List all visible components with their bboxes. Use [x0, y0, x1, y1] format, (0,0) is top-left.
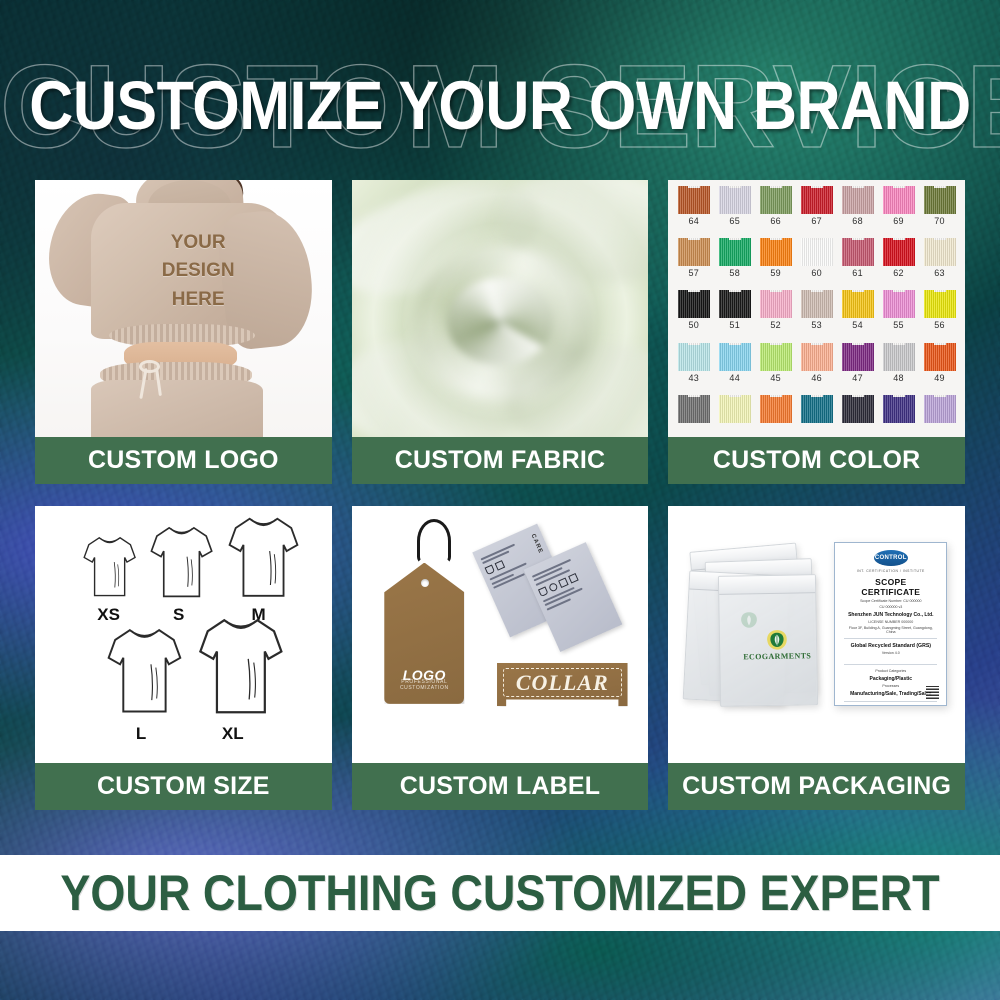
- tshirt-icon: [760, 186, 792, 214]
- tshirt-icon: [760, 395, 792, 423]
- color-swatch-number: 46: [811, 373, 822, 383]
- card-custom-size[interactable]: XS S M: [35, 506, 332, 810]
- certificate-version: CU 000000 v3: [844, 605, 937, 609]
- pants-body: [91, 380, 263, 437]
- tshirt-icon: [842, 238, 874, 266]
- tshirt-icon: [760, 343, 792, 371]
- tshirt-swatch-icon: [924, 343, 956, 371]
- fabric-sheen: [352, 180, 649, 437]
- tshirt-icon: [719, 238, 751, 266]
- size-chart-illustration: XS S M: [35, 506, 332, 763]
- tshirt-swatch-icon: [719, 290, 751, 318]
- card-caption-custom-fabric: CUSTOM FABRIC: [352, 437, 649, 484]
- certificate-number: Scope Certificate Number: CU 000000: [844, 599, 937, 603]
- color-swatch-number: 63: [934, 268, 945, 278]
- shirt-outline-xs: [77, 532, 142, 601]
- tshirt-swatch-icon: [719, 395, 751, 423]
- color-swatch-chart: 6465666768697057585960616263505152535455…: [668, 180, 965, 437]
- color-swatch: [837, 395, 878, 435]
- hangtag: LOGO PROFESSIONAL CUSTOMIZATION: [384, 563, 464, 704]
- page-title: CUSTOMIZE YOUR OWN BRAND: [0, 72, 1000, 140]
- color-swatch-number: 67: [811, 216, 822, 226]
- certificate-divider-1: [844, 638, 937, 639]
- color-swatch-number: 70: [934, 216, 945, 226]
- certificate-body-1: [844, 655, 937, 660]
- tshirt-swatch-icon: [842, 343, 874, 371]
- card-caption-custom-color: CUSTOM COLOR: [668, 437, 965, 484]
- dryclean-icon: [547, 582, 558, 593]
- color-swatch: 56: [919, 290, 960, 340]
- certificate-license: LICENSE NUMBER 000000: [844, 620, 937, 624]
- tshirt-swatch-icon: [719, 343, 751, 371]
- color-swatch: 66: [755, 186, 796, 236]
- shirt-outline-m: [219, 511, 308, 604]
- color-swatch-number: 43: [688, 373, 699, 383]
- color-swatch: [796, 395, 837, 435]
- color-swatch-number: 54: [852, 320, 863, 330]
- tshirt-icon: [678, 343, 710, 371]
- color-swatch-number: 69: [893, 216, 904, 226]
- tshirt-icon: [801, 395, 833, 423]
- tshirt-icon: [719, 343, 751, 371]
- card-custom-packaging[interactable]: ECOGARMENTS CONTROL INT. CERTI: [668, 506, 965, 810]
- color-swatch: [755, 395, 796, 435]
- card-custom-label[interactable]: LOGO PROFESSIONAL CUSTOMIZATION CARE: [352, 506, 649, 810]
- color-swatch: 58: [714, 238, 755, 288]
- tshirt-icon: [883, 395, 915, 423]
- tshirt-swatch-icon: [801, 343, 833, 371]
- hangtag-string-loop: [417, 519, 451, 563]
- ecogarments-brand-ghost: [737, 609, 763, 633]
- card-caption-custom-size: CUSTOM SIZE: [35, 763, 332, 810]
- card-custom-logo-image: YOUR DESIGN HERE: [35, 180, 332, 437]
- certificate-title: SCOPE CERTIFICATE: [844, 577, 937, 597]
- tshirt-icon: [883, 238, 915, 266]
- hoodie-print-text: YOUR DESIGN HERE: [133, 229, 264, 315]
- color-swatch-number: 66: [770, 216, 781, 226]
- card-custom-fabric[interactable]: CUSTOM FABRIC: [352, 180, 649, 484]
- tshirt-icon: [719, 290, 751, 318]
- color-swatch: 51: [714, 290, 755, 340]
- color-swatch-number: 57: [688, 268, 699, 278]
- tshirt-icon: [760, 290, 792, 318]
- tshirt-swatch-icon: [842, 238, 874, 266]
- color-swatch: 49: [919, 343, 960, 393]
- color-swatch-number: 61: [852, 268, 863, 278]
- tshirt-swatch-icon: [924, 290, 956, 318]
- card-caption-custom-label: CUSTOM LABEL: [352, 763, 649, 810]
- tshirt-swatch-icon: [883, 186, 915, 214]
- tshirt-icon: [801, 290, 833, 318]
- hangtag-eyelet: [421, 579, 429, 587]
- color-swatch: 46: [796, 343, 837, 393]
- tshirt-swatch-icon: [760, 343, 792, 371]
- card-custom-color-image: 6465666768697057585960616263505152535455…: [668, 180, 965, 437]
- certificate-divider-2: [844, 664, 937, 665]
- footer-tagline: YOUR CLOTHING CUSTOMIZED EXPERT: [60, 864, 939, 922]
- collar-label-text: COLLAR: [516, 670, 609, 696]
- color-swatch-grid: 6465666768697057585960616263505152535455…: [673, 186, 960, 435]
- tshirt-swatch-icon: [678, 238, 710, 266]
- tshirt-icon: [678, 238, 710, 266]
- control-union-oval-icon: CONTROL: [874, 550, 908, 566]
- tshirt-swatch-icon: [760, 186, 792, 214]
- card-caption-custom-logo: CUSTOM LOGO: [35, 437, 332, 484]
- card-custom-fabric-image: [352, 180, 649, 437]
- tshirt-icon: [678, 395, 710, 423]
- color-swatch: 65: [714, 186, 755, 236]
- color-swatch-number: 65: [729, 216, 740, 226]
- color-swatch-number: 59: [770, 268, 781, 278]
- tshirt-swatch-icon: [924, 395, 956, 423]
- color-swatch-number: 53: [811, 320, 822, 330]
- hoodie-photo: YOUR DESIGN HERE: [35, 180, 332, 437]
- tshirt-icon: [883, 186, 915, 214]
- shirt-outline-l: [97, 622, 192, 720]
- color-swatch: 68: [837, 186, 878, 236]
- color-swatch: 44: [714, 343, 755, 393]
- tshirt-swatch-icon: [760, 290, 792, 318]
- color-swatch: [714, 395, 755, 435]
- feature-card-grid: YOUR DESIGN HERE CUSTOM LOGO CUSTOM FABR…: [35, 180, 965, 810]
- tshirt-swatch-icon: [719, 186, 751, 214]
- certificate-divider-3: [844, 701, 937, 702]
- color-swatch: [878, 395, 919, 435]
- tshirt-swatch-icon: [924, 186, 956, 214]
- certificate-company: Shenzhen JUN Technology Co., Ltd.: [844, 612, 937, 618]
- color-swatch: 67: [796, 186, 837, 236]
- color-swatch: 62: [878, 238, 919, 288]
- card-custom-logo[interactable]: YOUR DESIGN HERE CUSTOM LOGO: [35, 180, 332, 484]
- qr-code-icon: [926, 686, 939, 699]
- color-swatch: 69: [878, 186, 919, 236]
- tshirt-swatch-icon: [760, 238, 792, 266]
- tshirt-icon: [719, 186, 751, 214]
- tshirt-icon: [842, 395, 874, 423]
- color-swatch: 63: [919, 238, 960, 288]
- tshirt-swatch-icon: [678, 343, 710, 371]
- color-swatch-number: 51: [729, 320, 740, 330]
- certificate-standard: Global Recycled Standard (GRS): [844, 643, 937, 649]
- color-swatch: 55: [878, 290, 919, 340]
- packaging-illustration: ECOGARMENTS CONTROL INT. CERTI: [668, 506, 965, 763]
- shirt-outline-s: [143, 521, 220, 603]
- tshirt-swatch-icon: [801, 395, 833, 423]
- tshirt-swatch-icon: [719, 238, 751, 266]
- color-swatch-number: 68: [852, 216, 863, 226]
- tshirt-swatch-icon: [678, 395, 710, 423]
- color-swatch: 59: [755, 238, 796, 288]
- color-swatch-number: 55: [893, 320, 904, 330]
- color-swatch: 47: [837, 343, 878, 393]
- label-products-illustration: LOGO PROFESSIONAL CUSTOMIZATION CARE: [352, 506, 649, 763]
- tshirt-swatch-icon: [801, 238, 833, 266]
- tshirt-icon: [924, 395, 956, 423]
- card-caption-custom-packaging: CUSTOM PACKAGING: [668, 763, 965, 810]
- tshirt-icon: [760, 238, 792, 266]
- tshirt-icon: [719, 395, 751, 423]
- color-swatch-number: 50: [688, 320, 699, 330]
- tshirt-swatch-icon: [760, 395, 792, 423]
- certificate-scope: Manufacturing/Sale, Trading/Sales: [844, 691, 937, 697]
- tshirt-swatch-icon: [924, 238, 956, 266]
- tshirt-swatch-icon: [678, 290, 710, 318]
- color-swatch: 60: [796, 238, 837, 288]
- color-swatch-number: 58: [729, 268, 740, 278]
- tshirt-icon: [924, 343, 956, 371]
- tshirt-icon: [924, 238, 956, 266]
- bleach-icon: [495, 560, 506, 571]
- color-swatch-number: 64: [688, 216, 699, 226]
- color-swatch: 64: [673, 186, 714, 236]
- tshirt-icon: [883, 343, 915, 371]
- tshirt-icon: [924, 290, 956, 318]
- certifier-subtitle: INT. CERTIFICATION / INSTITUTE: [844, 569, 937, 573]
- poly-mailer-front: ECOGARMENTS: [718, 575, 818, 708]
- wash-icon: [537, 586, 548, 597]
- tshirt-icon: [883, 290, 915, 318]
- card-custom-size-image: XS S M: [35, 506, 332, 763]
- size-label-l: L: [136, 724, 146, 744]
- size-label-xl: XL: [222, 724, 244, 744]
- tshirt-swatch-icon: [883, 290, 915, 318]
- tshirt-swatch-icon: [801, 186, 833, 214]
- leaf-icon-ghost: [737, 609, 763, 633]
- wash-icon: [485, 565, 496, 576]
- card-custom-color[interactable]: 6465666768697057585960616263505152535455…: [668, 180, 965, 484]
- leaf-icon: [764, 628, 790, 652]
- color-swatch: [673, 395, 714, 435]
- shirt-outline-xl: [186, 611, 296, 722]
- header-banner: CUSTOM SERVICE CUSTOMIZE YOUR OWN BRAND: [0, 52, 1000, 160]
- tshirt-swatch-icon: [842, 395, 874, 423]
- tshirt-icon: [801, 343, 833, 371]
- color-swatch-number: 48: [893, 373, 904, 383]
- tshirt-icon: [842, 290, 874, 318]
- tshirt-swatch-icon: [883, 238, 915, 266]
- iron-icon: [557, 577, 568, 588]
- certificate-product-label: Product Categories: [844, 669, 937, 673]
- tshirt-swatch-icon: [801, 290, 833, 318]
- tshirt-icon: [678, 186, 710, 214]
- collar-label-border: COLLAR: [503, 668, 622, 698]
- color-swatch: 48: [878, 343, 919, 393]
- color-swatch: 53: [796, 290, 837, 340]
- print-line-3: HERE: [133, 286, 264, 315]
- tshirt-icon: [801, 186, 833, 214]
- tshirt-icon: [801, 238, 833, 266]
- color-swatch-number: 52: [770, 320, 781, 330]
- footer-banner: YOUR CLOTHING CUSTOMIZED EXPERT: [0, 855, 1000, 931]
- tshirt-icon: [842, 343, 874, 371]
- tshirt-swatch-icon: [678, 186, 710, 214]
- color-swatch-number: 44: [729, 373, 740, 383]
- color-swatch-number: 49: [934, 373, 945, 383]
- print-line-1: YOUR: [133, 229, 264, 258]
- color-swatch: 45: [755, 343, 796, 393]
- silk-fabric-photo: [352, 180, 649, 437]
- color-swatch-number: 45: [770, 373, 781, 383]
- tshirt-icon: [842, 186, 874, 214]
- collar-woven-label: COLLAR: [497, 663, 628, 707]
- color-swatch: [919, 395, 960, 435]
- color-swatch: 50: [673, 290, 714, 340]
- tshirt-icon: [678, 290, 710, 318]
- scope-certificate: CONTROL INT. CERTIFICATION / INSTITUTE S…: [834, 542, 947, 706]
- hangtag-subtitle: PROFESSIONAL CUSTOMIZATION: [384, 679, 464, 691]
- color-swatch: 52: [755, 290, 796, 340]
- color-swatch-number: 56: [934, 320, 945, 330]
- certifier-logo: CONTROL: [844, 550, 937, 566]
- tshirt-swatch-icon: [883, 343, 915, 371]
- card-custom-packaging-image: ECOGARMENTS CONTROL INT. CERTI: [668, 506, 965, 763]
- certificate-scope-label: Processes: [844, 684, 937, 688]
- certificate-product: Packaging/Plastic: [844, 676, 937, 682]
- color-swatch: 43: [673, 343, 714, 393]
- color-swatch: 54: [837, 290, 878, 340]
- ecogarments-label: ECOGARMENTS: [743, 651, 811, 661]
- color-swatch-number: 62: [893, 268, 904, 278]
- tshirt-swatch-icon: [883, 395, 915, 423]
- color-swatch: 61: [837, 238, 878, 288]
- tshirt-swatch-icon: [842, 186, 874, 214]
- color-swatch: 70: [919, 186, 960, 236]
- card-custom-label-image: LOGO PROFESSIONAL CUSTOMIZATION CARE: [352, 506, 649, 763]
- print-line-2: DESIGN: [133, 257, 264, 286]
- tumbledry-icon: [567, 573, 578, 584]
- color-swatch-number: 60: [811, 268, 822, 278]
- color-swatch: 57: [673, 238, 714, 288]
- tshirt-icon: [924, 186, 956, 214]
- tshirt-swatch-icon: [842, 290, 874, 318]
- certificate-address: Floor 3F, Building A, Guangming Street, …: [844, 626, 937, 634]
- color-swatch-number: 47: [852, 373, 863, 383]
